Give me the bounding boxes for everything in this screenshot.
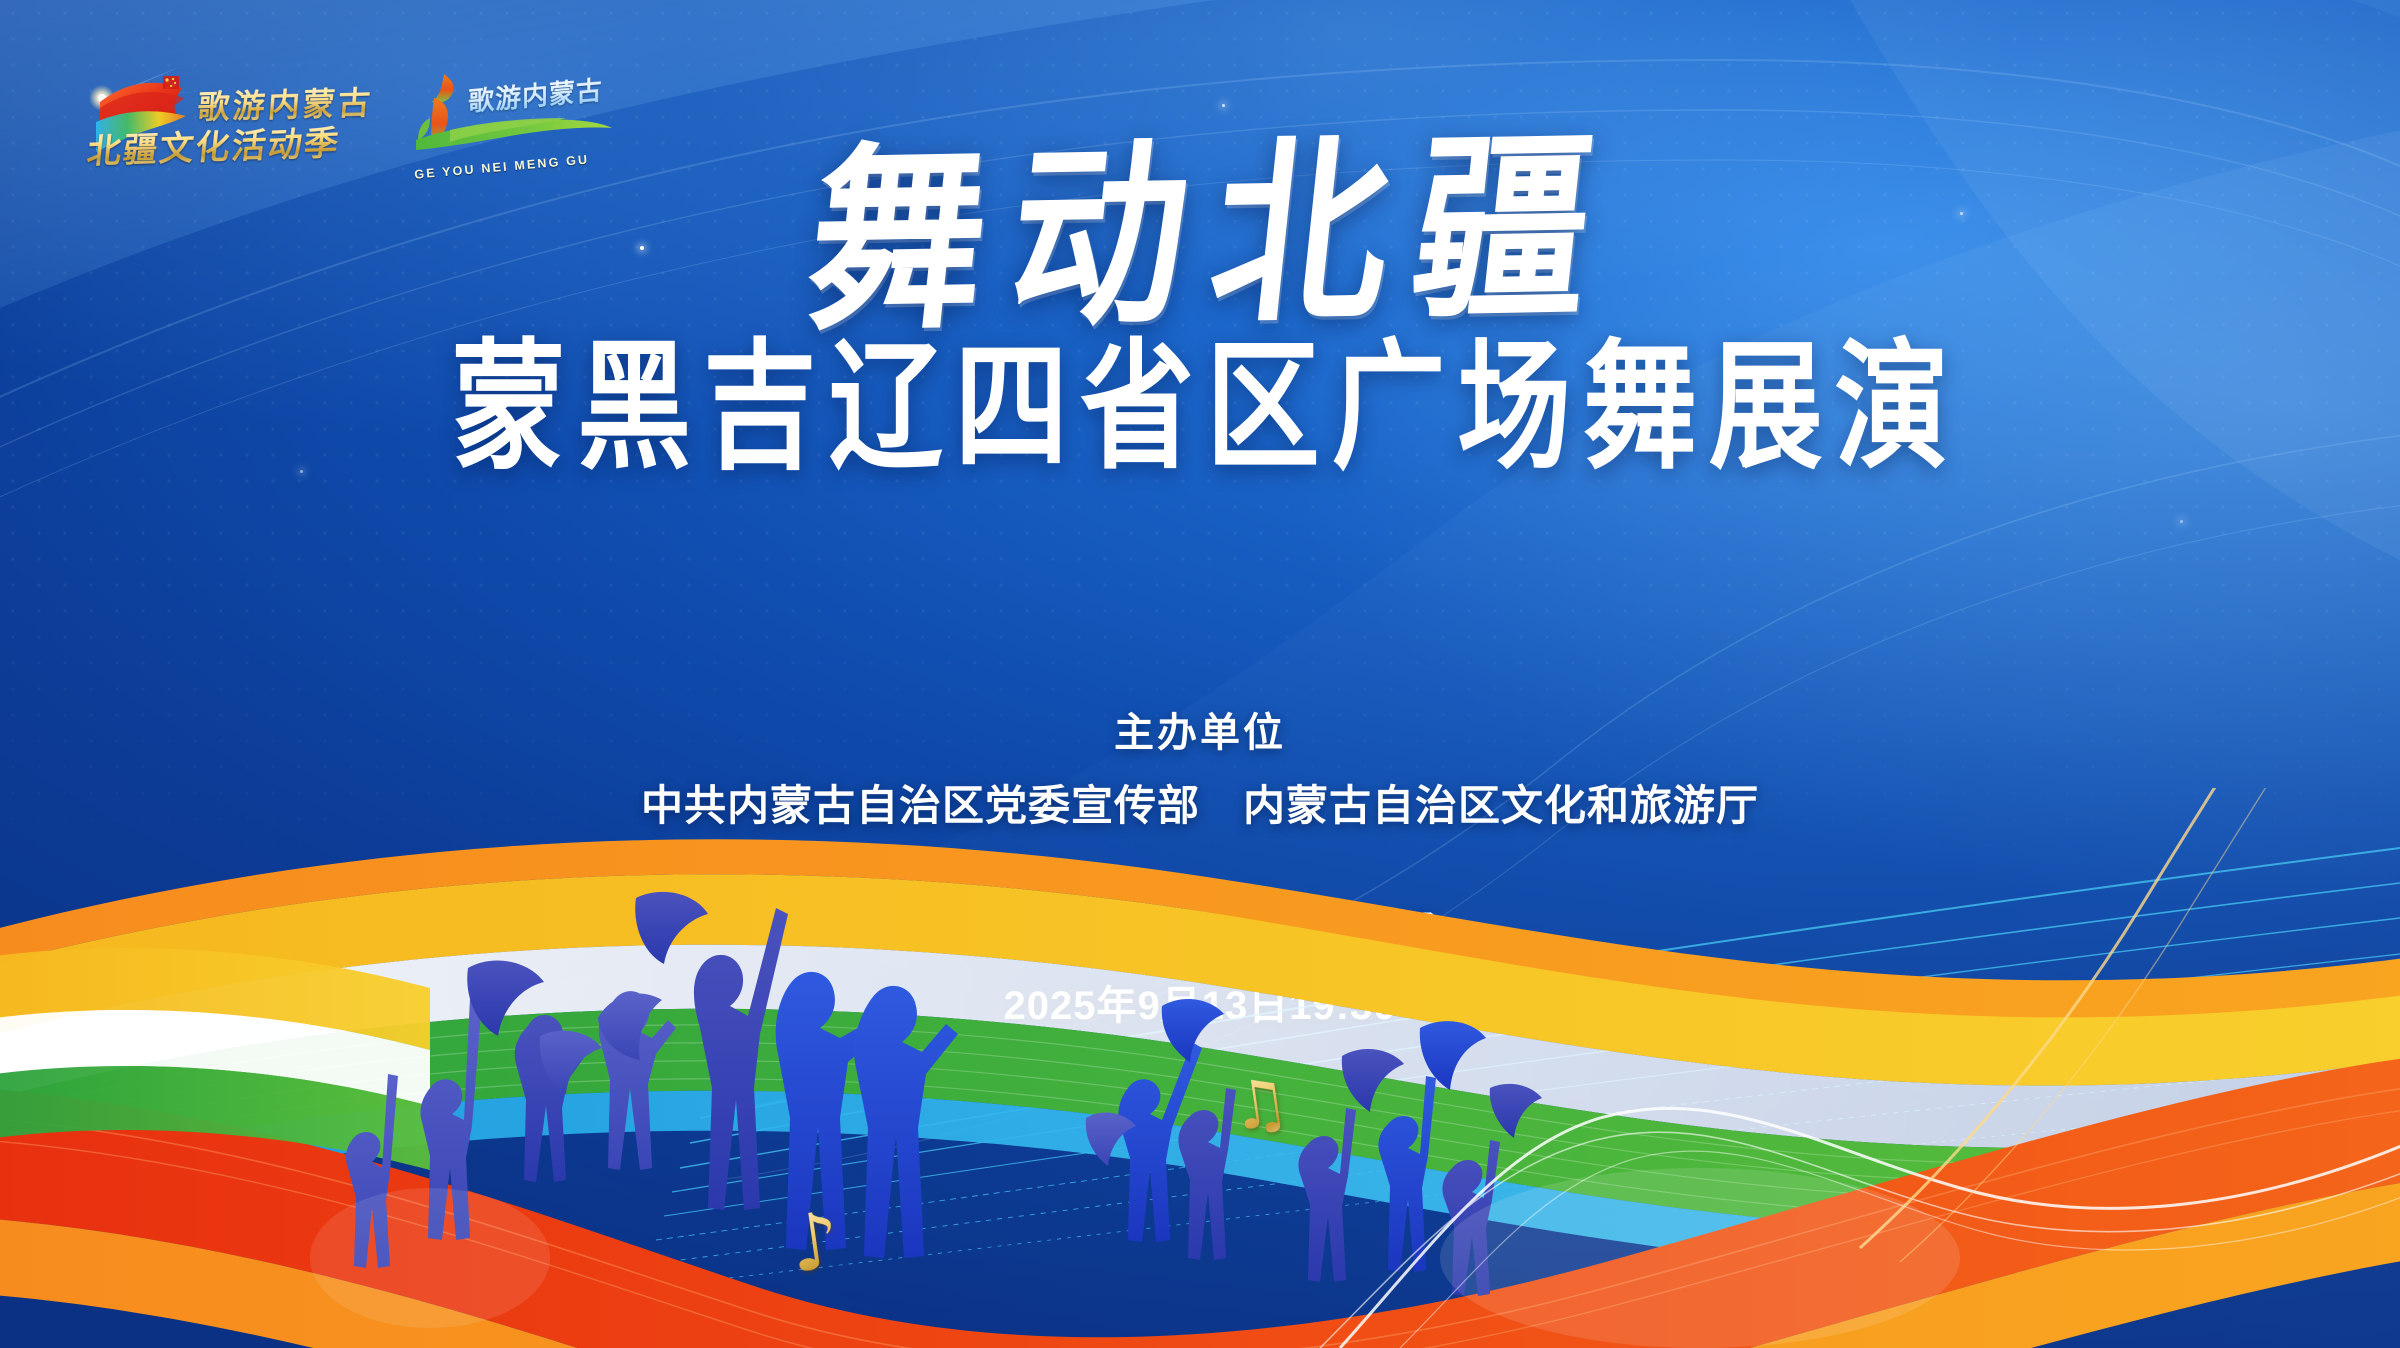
poster-canvas: 歌游内蒙古 北疆文化活动季	[0, 0, 2400, 1348]
music-note-right-icon: ♫	[1230, 1066, 1289, 1143]
bottom-ribbon-artwork: ♪ ♫	[0, 788, 2400, 1348]
music-note-left-icon: ♪	[790, 1198, 840, 1288]
main-title: 舞动北疆	[0, 117, 2400, 358]
host-label: 主办单位	[0, 700, 2400, 758]
logo-geyou-neimenggu[interactable]: 歌游内蒙古 GE YOU NEI MENG GU	[414, 66, 614, 154]
title-block: 舞动北疆 蒙黑吉辽四省区广场舞展演	[0, 150, 2400, 466]
sub-title: 蒙黑吉辽四省区广场舞展演	[12, 338, 2388, 478]
